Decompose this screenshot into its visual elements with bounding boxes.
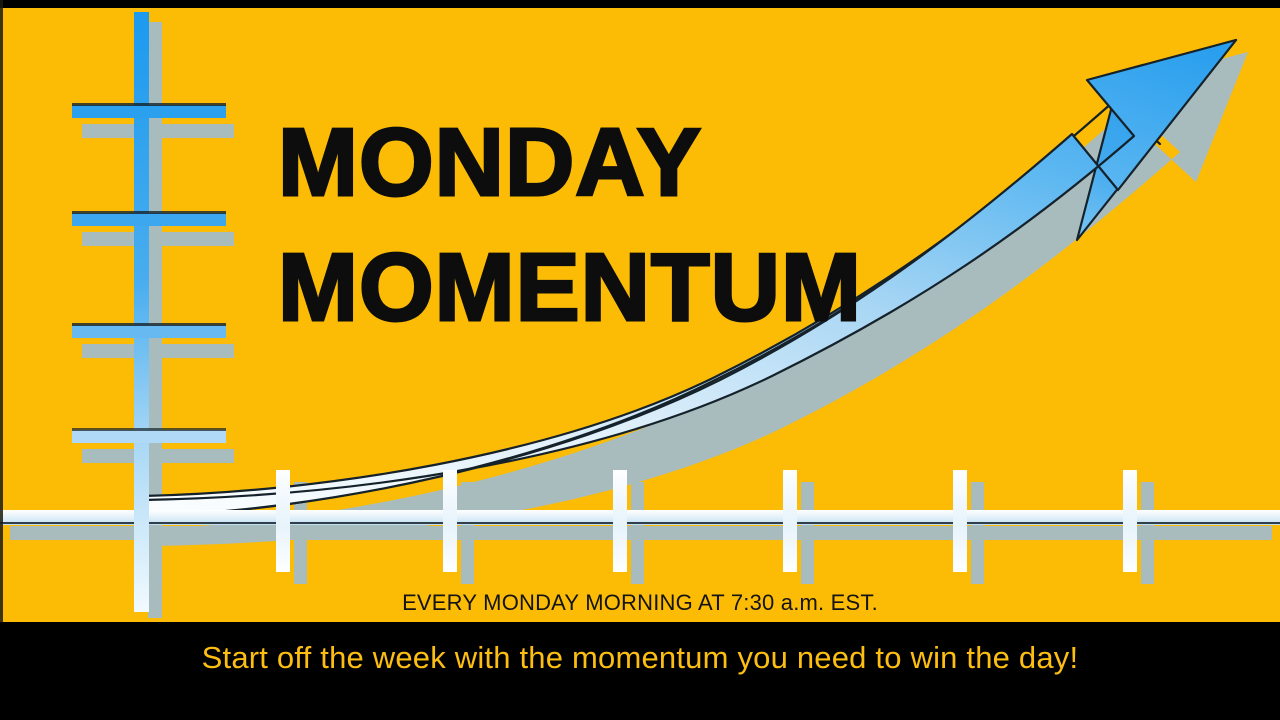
schedule-caption: EVERY MONDAY MORNING AT 7:30 a.m. EST. <box>0 590 1280 616</box>
poster-canvas: MONDAY MOMENTUM EVERY MONDAY MORNING AT … <box>0 0 1280 720</box>
footer-band: Start off the week with the momentum you… <box>0 622 1280 720</box>
y-axis-icon <box>134 12 149 612</box>
poster-panel: MONDAY MOMENTUM EVERY MONDAY MORNING AT … <box>0 4 1280 622</box>
title-line-1: MONDAY <box>278 100 978 225</box>
page-title: MONDAY MOMENTUM <box>278 100 978 350</box>
left-edge-divider <box>0 0 3 622</box>
title-line-2: MOMENTUM <box>278 225 978 350</box>
footer-tagline: Start off the week with the momentum you… <box>0 640 1280 676</box>
top-divider <box>0 4 1280 8</box>
x-axis-icon <box>0 510 1280 525</box>
